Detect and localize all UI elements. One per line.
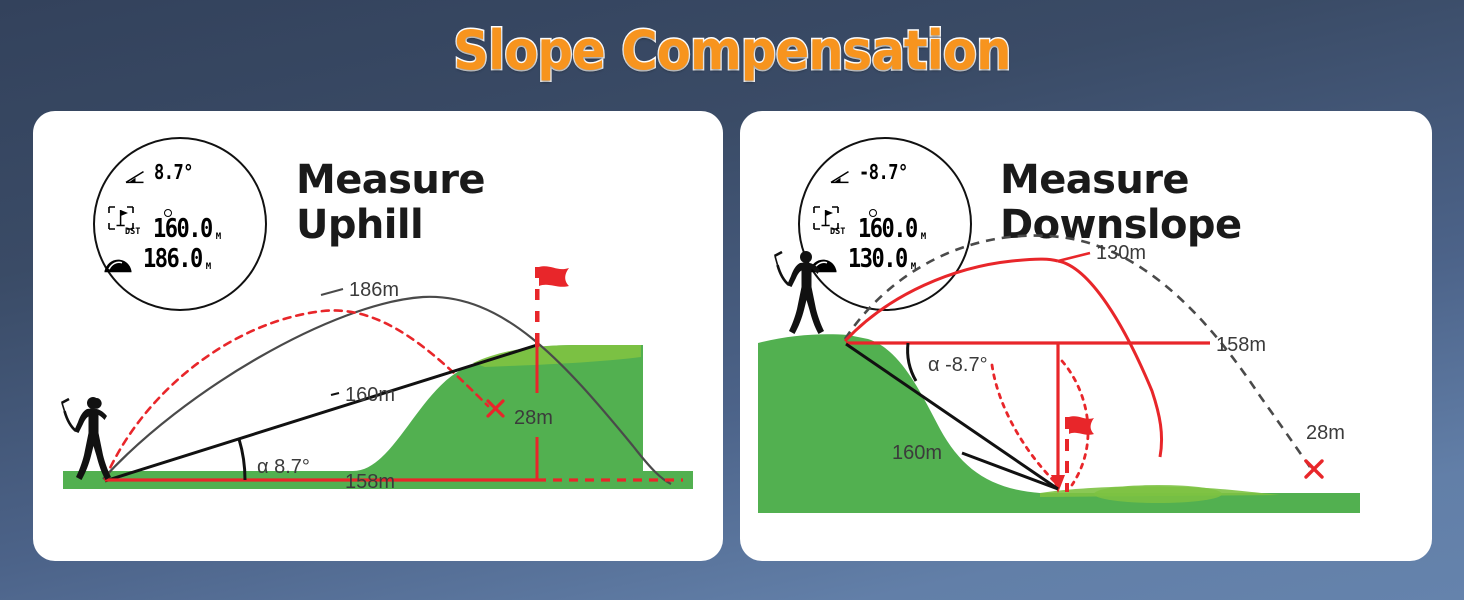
viewfinder-angle-value: 8.7° xyxy=(154,163,193,184)
page-title-container: Slope Compensation xyxy=(0,24,1464,78)
label-los-160: 160m xyxy=(892,442,942,464)
diagram-uphill: 186m 160m 158m 28m α 8.7° xyxy=(33,241,723,561)
viewfinder-distance-value: 160.0 xyxy=(153,217,212,243)
ground-hill-shape xyxy=(63,345,693,489)
red-x-icon xyxy=(1306,461,1322,477)
angle-icon xyxy=(830,170,850,184)
panel-heading-uphill: MeasureUphill xyxy=(296,158,485,248)
leader-186 xyxy=(321,289,343,295)
golfer-silhouette-icon xyxy=(775,251,825,334)
leader-160 xyxy=(331,393,339,395)
viewfinder-angle-row: 8.7° xyxy=(125,167,249,184)
diagram-downslope: 130m 158m 160m 28m α -8.7° xyxy=(740,231,1432,561)
label-height-28: 28m xyxy=(514,407,553,429)
viewfinder-angle-row: -8.7° xyxy=(830,167,954,184)
viewfinder-distance-row: 160.0 M xyxy=(153,221,221,243)
page-title: Slope Compensation xyxy=(453,24,1010,78)
label-angle-uphill: α 8.7° xyxy=(257,456,310,478)
label-arc-130: 130m xyxy=(1096,242,1146,264)
leader-130 xyxy=(1058,253,1090,261)
label-arc-186: 186m xyxy=(349,279,399,301)
golf-flag-icon xyxy=(535,266,569,347)
panel-measure-uphill: 8.7° DST 160.0 M 186.0 M MeasureUphil xyxy=(33,111,723,561)
label-height-28: 28m xyxy=(1306,422,1345,444)
label-horizontal-158: 158m xyxy=(345,471,395,493)
putting-green-highlight xyxy=(1094,485,1222,503)
viewfinder-angle-value: -8.7° xyxy=(859,163,908,184)
golf-flag-icon xyxy=(1065,416,1094,492)
label-los-160: 160m xyxy=(345,384,395,406)
viewfinder-dst-label: DST xyxy=(125,227,140,237)
label-horizontal-158: 158m xyxy=(1216,334,1266,356)
angle-icon xyxy=(125,170,145,184)
label-angle-downslope: α -8.7° xyxy=(928,354,988,376)
golfer-silhouette-icon xyxy=(62,397,112,480)
panel-measure-downslope: -8.7° DST 160.0 M 130.0 M MeasureDownslo xyxy=(740,111,1432,561)
